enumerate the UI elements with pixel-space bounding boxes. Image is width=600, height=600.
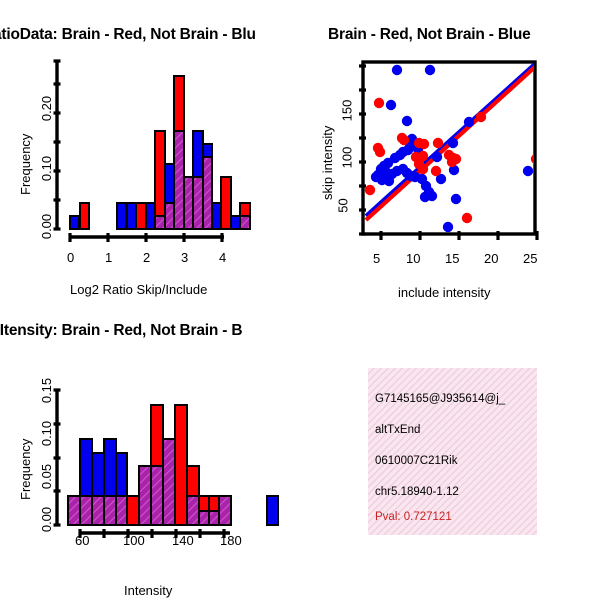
info-line-gene: 0610007C21Rik (375, 455, 457, 467)
panel-info-box: G7145165@J935614@j_ altTxEnd 0610007C21R… (300, 300, 600, 600)
panel-intensity-histogram: ne Itensity: Brain - Red, Not Brain - B … (0, 300, 300, 600)
info-line-locus: chr5.18940-1.12 (375, 486, 459, 498)
panel-intensity-scatter: Brain - Red, Not Brain - Blue skip inten… (300, 0, 600, 300)
info-box-text-clip: G7145165@J935614@j_ altTxEnd 0610007C21R… (368, 368, 537, 535)
figure-canvas: RatioData: Brain - Red, Not Brain - Blu … (0, 0, 600, 600)
info-line-pval: Pval: 0.727121 (375, 511, 452, 523)
ratio-bars (70, 76, 250, 229)
ratio-histogram-plot (0, 0, 300, 300)
panel-ratio-histogram: RatioData: Brain - Red, Not Brain - Blu … (0, 0, 300, 300)
scatter-content (365, 63, 541, 232)
intensity-histogram-plot (0, 300, 300, 600)
scatter-plot (300, 0, 600, 300)
info-line-id: G7145165@J935614@j_ (375, 393, 505, 405)
intensity-bars (68, 405, 278, 525)
info-line-event: altTxEnd (375, 424, 420, 436)
